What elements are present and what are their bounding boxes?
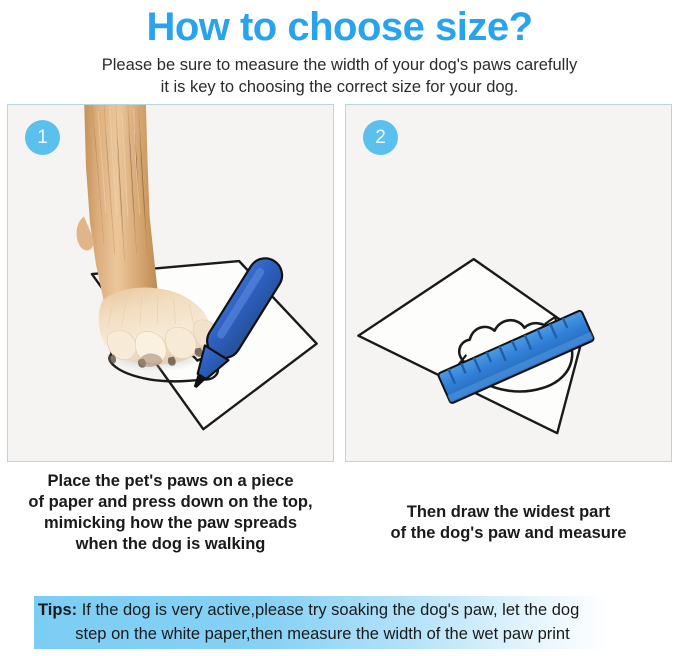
page-subtitle: Please be sure to measure the width of y… — [40, 54, 640, 98]
caption-line: of the dog's paw and measure — [345, 523, 672, 544]
step-panel-1: 1 — [7, 104, 334, 462]
caption-line: Then draw the widest part — [345, 502, 672, 523]
tips-text-1: If the dog is very active,please try soa… — [77, 601, 579, 619]
tips-line-1: Tips: If the dog is very active,please t… — [38, 598, 647, 622]
tips-container: Tips: If the dog is very active,please t… — [0, 596, 679, 649]
page-title: How to choose size? — [0, 4, 679, 50]
step-caption-1: Place the pet's paws on a piece of paper… — [7, 471, 334, 555]
paw-outline-with-ruler-illustration — [346, 105, 671, 461]
subtitle-line-2: it is key to choosing the correct size f… — [40, 76, 640, 98]
step-badge-2: 2 — [363, 120, 398, 155]
steps-panel-row: 1 — [0, 98, 679, 462]
header: How to choose size? Please be sure to me… — [0, 0, 679, 98]
tips-line-2: step on the white paper,then measure the… — [38, 622, 647, 646]
caption-line: when the dog is walking — [7, 534, 334, 555]
tips-label: Tips: — [38, 601, 77, 619]
caption-line: mimicking how the paw spreads — [7, 513, 334, 534]
tips-banner: Tips: If the dog is very active,please t… — [34, 596, 651, 649]
step-badge-1: 1 — [25, 120, 60, 155]
step-caption-2: Then draw the widest part of the dog's p… — [345, 471, 672, 555]
step-panel-2: 2 — [345, 104, 672, 462]
caption-line: of paper and press down on the top, — [7, 492, 334, 513]
caption-line: Place the pet's paws on a piece — [7, 471, 334, 492]
captions-row: Place the pet's paws on a piece of paper… — [0, 471, 679, 555]
subtitle-line-1: Please be sure to measure the width of y… — [40, 54, 640, 76]
dog-paw-on-paper-illustration — [8, 105, 333, 461]
